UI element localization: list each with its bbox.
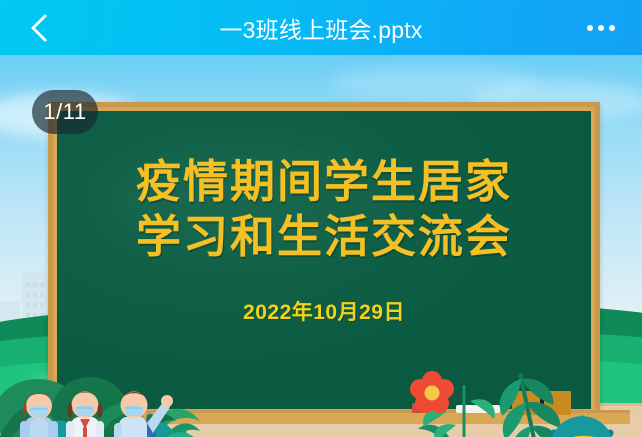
more-options-icon-dot (598, 25, 604, 31)
foliage-right (398, 351, 642, 437)
slide-date: 2022年10月29日 (243, 296, 405, 326)
more-options-icon-dot (609, 25, 615, 31)
slide-title-line-2: 学习和生活交流会 (136, 210, 512, 265)
back-button[interactable] (16, 0, 68, 55)
child-center (66, 392, 104, 437)
cloud-shape (330, 65, 540, 99)
slide-title-line-1: 疫情期间学生居家 (136, 155, 512, 210)
page-indicator-badge: 1/11 (32, 90, 98, 134)
child-left (20, 393, 58, 437)
more-options-icon-dot (587, 25, 593, 31)
chevron-left-icon (30, 13, 58, 41)
page-title: 一3班线上班会.pptx (0, 0, 642, 55)
app-header-bar: 一3班线上班会.pptx (0, 0, 642, 55)
pptx-viewer-screen: 一3班线上班会.pptx (0, 0, 642, 437)
more-options-button[interactable] (572, 0, 630, 55)
students-illustration (6, 385, 186, 437)
child-right (114, 392, 173, 437)
